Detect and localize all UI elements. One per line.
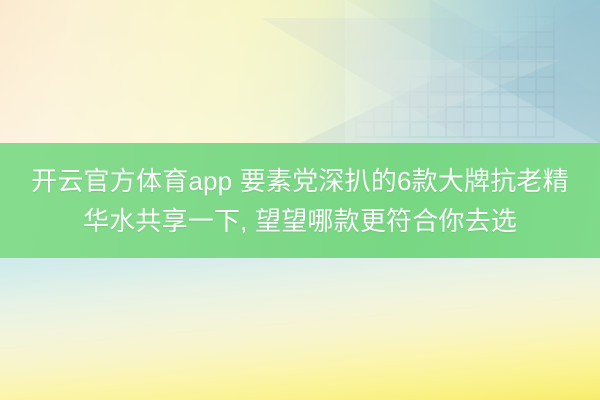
- top-sky-wash: [0, 0, 600, 144]
- cloud-layer: [0, 258, 600, 400]
- title-line-1: 开云官方体育app 要素党深扒的6款大牌抗老精: [31, 161, 569, 201]
- title-line-2: 华水共享一下, 望望哪款更符合你去选: [83, 201, 517, 241]
- title-banner: 开云官方体育app 要素党深扒的6款大牌抗老精 华水共享一下, 望望哪款更符合你…: [0, 143, 600, 258]
- promo-banner-image: 开云官方体育app 要素党深扒的6款大牌抗老精 华水共享一下, 望望哪款更符合你…: [0, 0, 600, 400]
